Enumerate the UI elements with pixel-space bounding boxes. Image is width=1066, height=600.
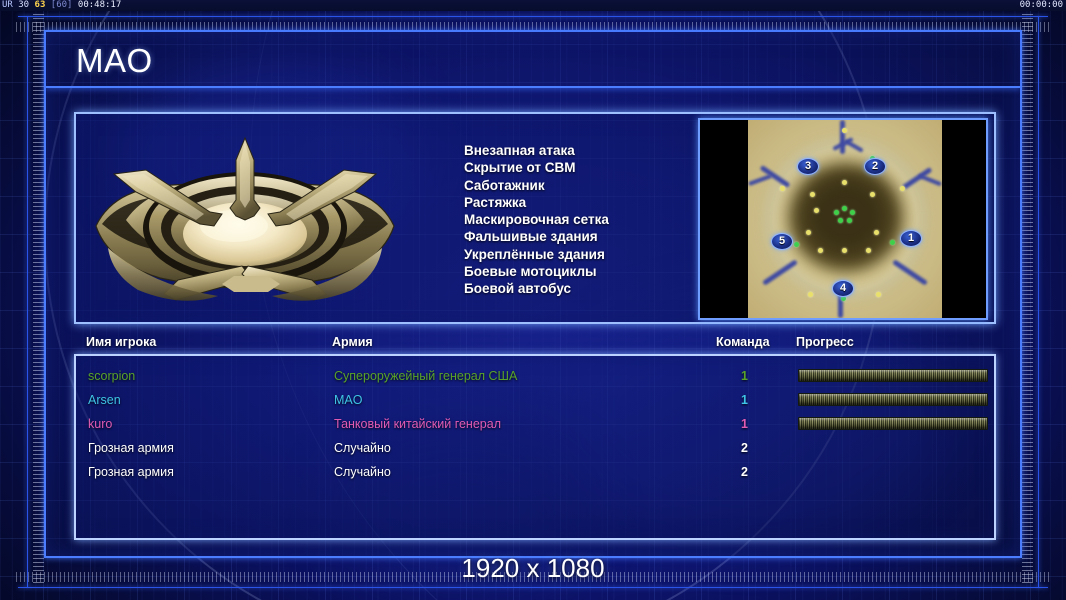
map-supply <box>814 208 819 213</box>
ruler-right <box>1022 14 1033 586</box>
map-river <box>840 120 845 154</box>
column-header-team: Команда <box>716 335 770 349</box>
map-start-position[interactable]: 1 <box>900 230 922 247</box>
map-supply <box>808 292 813 297</box>
player-list: scorpion Супероружейный генерал США 1 Ar… <box>74 354 996 540</box>
player-progress-bar <box>798 393 988 406</box>
ability-item: Внезапная атака <box>464 142 714 159</box>
player-army: Танковый китайский генерал <box>334 412 501 436</box>
map-start-position[interactable]: 3 <box>797 158 819 175</box>
player-team: 2 <box>726 460 748 484</box>
gla-emblem-icon <box>82 116 408 322</box>
map-river <box>892 259 928 286</box>
map-river <box>748 174 772 186</box>
map-supply <box>870 192 875 197</box>
column-header-name: Имя игрока <box>86 335 156 349</box>
resolution-label: 1920 x 1080 <box>0 553 1066 584</box>
hud-value1: 30 <box>18 0 29 10</box>
hud-value2: 63 <box>35 0 46 10</box>
map-oil <box>850 210 855 215</box>
map-start-position[interactable]: 5 <box>771 233 793 250</box>
page-title: MAO <box>76 42 153 80</box>
player-team: 1 <box>726 364 748 388</box>
player-team: 1 <box>726 412 748 436</box>
map-start-position[interactable]: 4 <box>832 280 854 297</box>
player-army: MAO <box>334 388 362 412</box>
player-name: kuro <box>88 412 112 436</box>
ability-item: Боевой автобус <box>464 280 714 297</box>
ruler-left <box>33 14 44 586</box>
hud-label: UR <box>2 0 13 10</box>
player-name: Грозная армия <box>88 436 174 460</box>
ability-item: Скрытие от СВМ <box>464 159 714 176</box>
hud-stats: UR 30 63 [60] 00:48:17 <box>2 0 121 11</box>
column-header-progress: Прогресс <box>796 335 854 349</box>
table-row[interactable]: Грозная армия Случайно 2 <box>76 436 994 460</box>
map-supply <box>900 186 905 191</box>
column-header-army: Армия <box>332 335 373 349</box>
map-supply <box>874 230 879 235</box>
ability-item: Фальшивые здания <box>464 228 714 245</box>
ability-item: Саботажник <box>464 177 714 194</box>
player-table-header: Имя игрока Армия Команда Прогресс <box>46 335 1020 353</box>
map-supply <box>810 192 815 197</box>
map-river <box>918 174 942 187</box>
map-preview[interactable]: 1 2 3 4 5 <box>698 118 988 320</box>
player-name: Arsen <box>88 388 121 412</box>
table-row[interactable]: kuro Танковый китайский генерал 1 <box>76 412 994 436</box>
map-oil <box>794 242 799 247</box>
map-supply <box>866 248 871 253</box>
edge-line-left <box>27 16 28 588</box>
player-name: Грозная армия <box>88 460 174 484</box>
ability-item: Растяжка <box>464 194 714 211</box>
player-army: Случайно <box>334 460 391 484</box>
player-name: scorpion <box>88 364 135 388</box>
top-hud-bar: UR 30 63 [60] 00:48:17 00:00:00 <box>0 0 1066 11</box>
map-image: 1 2 3 4 5 <box>748 120 942 318</box>
map-oil <box>838 218 843 223</box>
edge-line-bottom <box>18 587 1048 588</box>
map-supply <box>780 186 785 191</box>
faction-emblem <box>82 116 408 322</box>
table-row[interactable]: Arsen MAO 1 <box>76 388 994 412</box>
hud-elapsed-time: 00:48:17 <box>78 0 121 10</box>
game-lobby-screen: UR 30 63 [60] 00:48:17 00:00:00 MAO <box>0 0 1066 600</box>
main-panel: MAO <box>44 30 1022 558</box>
map-supply <box>876 292 881 297</box>
ability-item: Маскировочная сетка <box>464 211 714 228</box>
player-progress-bar <box>798 417 988 430</box>
map-supply <box>842 180 847 185</box>
table-row[interactable]: scorpion Супероружейный генерал США 1 <box>76 364 994 388</box>
edge-line-top <box>18 16 1048 17</box>
faction-ability-list: Внезапная атака Скрытие от СВМ Саботажни… <box>464 142 714 298</box>
map-start-position[interactable]: 2 <box>864 158 886 175</box>
edge-line-right <box>1038 16 1039 588</box>
player-army: Случайно <box>334 436 391 460</box>
player-team: 1 <box>726 388 748 412</box>
map-oil <box>890 240 895 245</box>
map-oil <box>834 210 839 215</box>
map-supply <box>842 248 847 253</box>
player-team: 2 <box>726 436 748 460</box>
player-army: Супероружейный генерал США <box>334 364 517 388</box>
ability-item: Укреплённые здания <box>464 246 714 263</box>
map-supply <box>818 248 823 253</box>
ability-item: Боевые мотоциклы <box>464 263 714 280</box>
map-supply <box>806 230 811 235</box>
map-river <box>762 259 798 286</box>
map-oil <box>847 218 852 223</box>
title-bar: MAO <box>46 32 1020 88</box>
map-terrain-ring <box>774 148 918 290</box>
faction-info-card: Внезапная атака Скрытие от СВМ Саботажни… <box>74 112 996 324</box>
hud-clock: 00:00:00 <box>1020 0 1063 11</box>
map-oil <box>842 206 847 211</box>
hud-value3: [60] <box>51 0 73 10</box>
table-row[interactable]: Грозная армия Случайно 2 <box>76 460 994 484</box>
player-progress-bar <box>798 369 988 382</box>
map-supply <box>842 128 847 133</box>
